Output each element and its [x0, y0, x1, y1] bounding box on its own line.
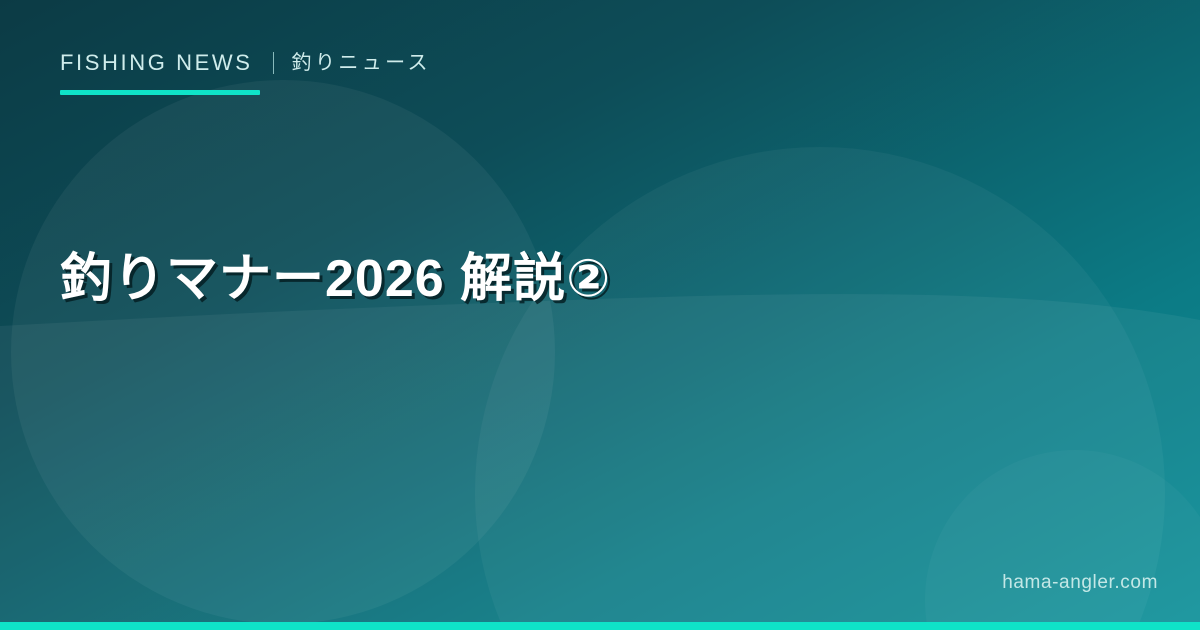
header-block: FISHING NEWS 釣りニュース	[60, 52, 431, 95]
eyebrow-kicker: FISHING NEWS	[60, 52, 253, 74]
eyebrow-subtitle: 釣りニュース	[292, 53, 431, 73]
eyebrow-row: FISHING NEWS 釣りニュース	[60, 52, 431, 74]
site-domain: hama-angler.com	[1002, 572, 1158, 594]
og-card: FISHING NEWS 釣りニュース 釣りマナー2026 解説② hama-a…	[0, 0, 1200, 630]
page-title: 釣りマナー2026 解説②	[60, 246, 1110, 313]
bottom-accent-bar	[0, 622, 1200, 630]
title-block: 釣りマナー2026 解説②	[60, 246, 1110, 313]
header-accent-rule	[60, 90, 260, 95]
eyebrow-separator-icon	[273, 52, 274, 74]
